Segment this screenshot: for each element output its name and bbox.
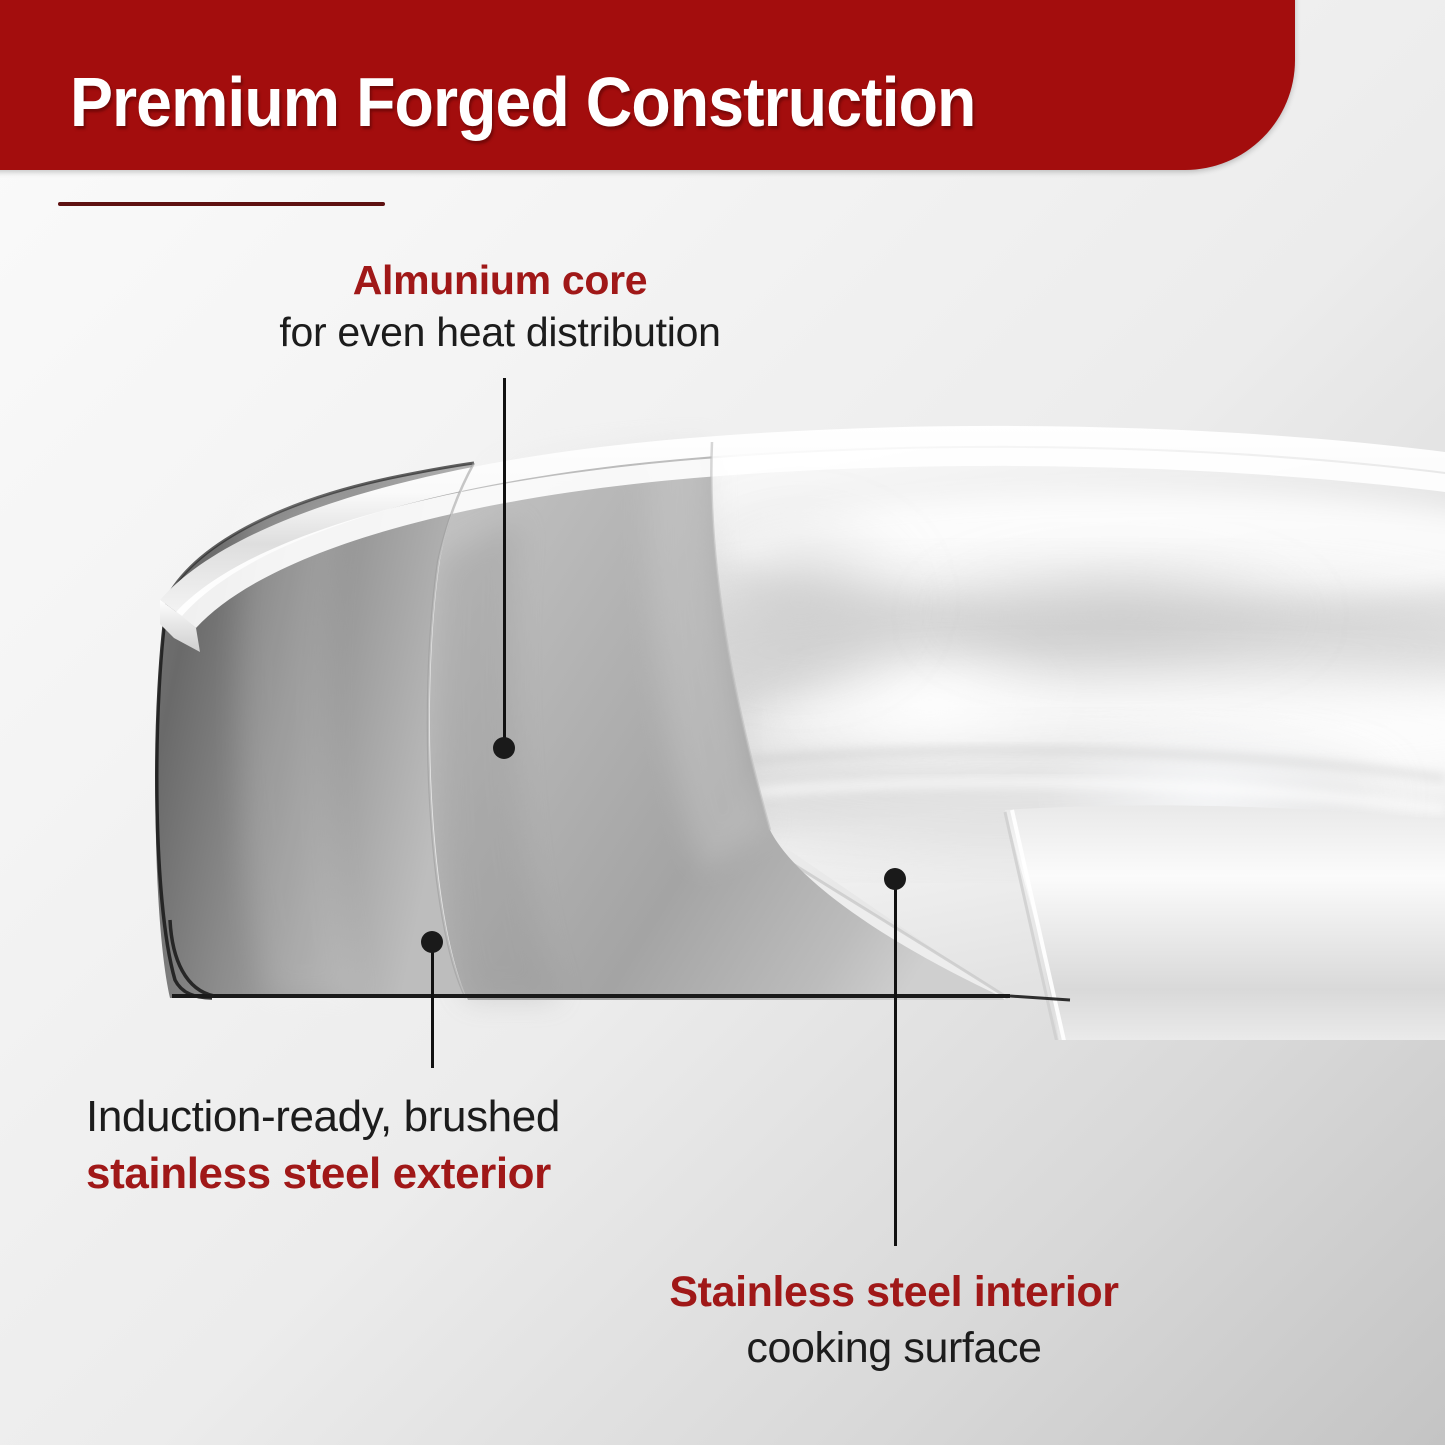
callout-aluminum-core: Almunium core for even heat distribution (190, 258, 810, 356)
callout-stainless-interior-heading: Stainless steel interior (614, 1268, 1174, 1316)
product-cutaway-illustration (0, 400, 1445, 1040)
header-banner: Premium Forged Construction (0, 0, 1295, 170)
infographic-canvas: Premium Forged Construction (0, 0, 1445, 1445)
callout-stainless-exterior-heading: Induction-ready, brushed (86, 1092, 560, 1141)
callout-dot-aluminum-core (493, 737, 515, 759)
page-title: Premium Forged Construction (70, 62, 975, 142)
leader-line-aluminum-core (503, 378, 506, 750)
callout-stainless-interior-subtext: cooking surface (614, 1324, 1174, 1372)
accent-rule-divider (58, 202, 385, 206)
callout-aluminum-core-heading: Almunium core (190, 258, 810, 304)
callout-aluminum-core-subtext: for even heat distribution (190, 310, 810, 356)
leader-line-stainless-interior (894, 884, 897, 1246)
callout-stainless-interior: Stainless steel interior cooking surface (614, 1268, 1174, 1372)
callout-stainless-exterior-subtext: stainless steel exterior (86, 1149, 560, 1198)
leader-line-stainless-exterior (431, 948, 434, 1068)
callout-stainless-exterior: Induction-ready, brushed stainless steel… (86, 1092, 560, 1199)
interior-wall-panel (1005, 805, 1445, 1040)
callout-dot-stainless-interior (884, 868, 906, 890)
callout-dot-stainless-exterior (421, 931, 443, 953)
